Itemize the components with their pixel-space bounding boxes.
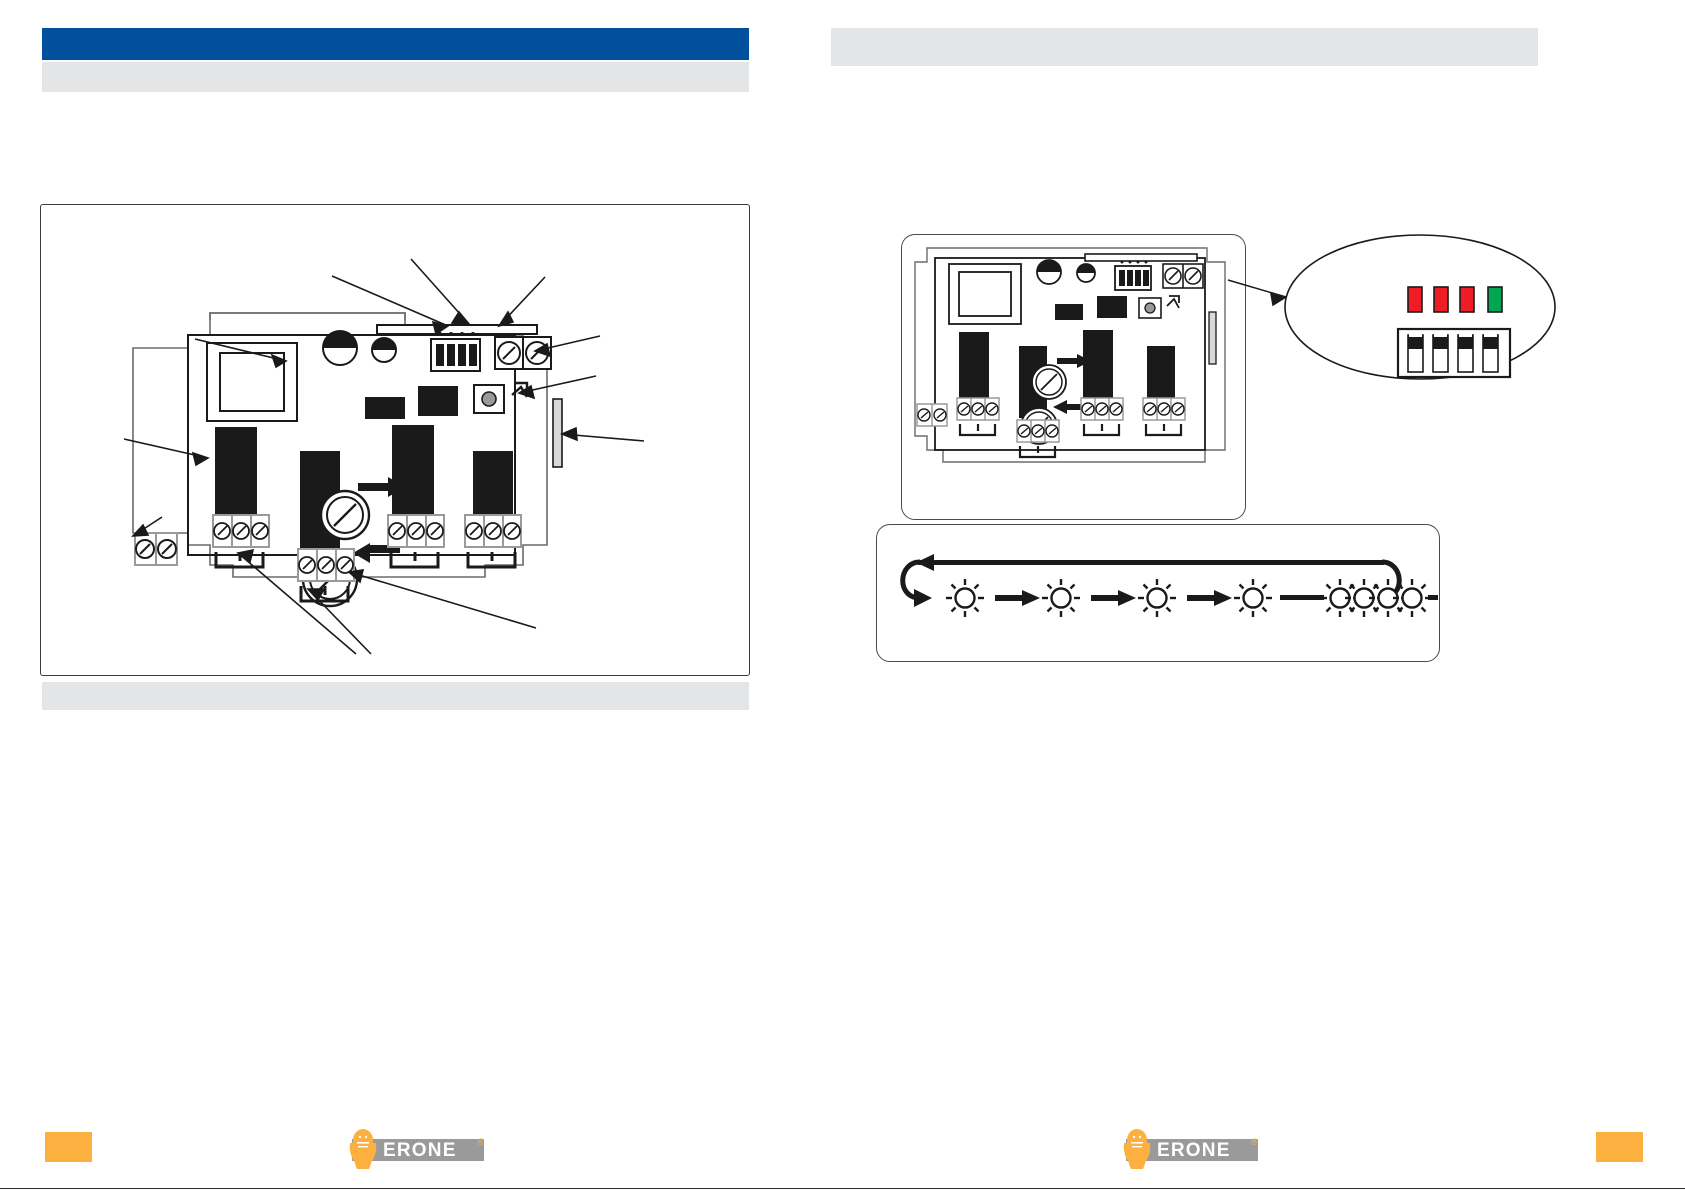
output-terminal-small-4 [1143, 398, 1185, 435]
control-board-small-svg [907, 240, 1239, 514]
lamp-step-2 [1042, 579, 1080, 617]
antenna-symbol-icon-small [1167, 296, 1179, 308]
erone-figure-icon [350, 1129, 377, 1169]
callout-8 [124, 439, 208, 465]
sequence-tail-line [1428, 595, 1438, 600]
erone-logo-svg-right: ERONE ® [1101, 1128, 1261, 1170]
page-left: ERONE ® [0, 0, 842, 1191]
magnifier-svg [1238, 225, 1658, 425]
callout-6 [519, 376, 596, 398]
callout-4 [535, 336, 600, 356]
output-terminal-small-1 [957, 398, 999, 435]
erone-logo-svg: ERONE ® [327, 1128, 487, 1170]
led-red-3 [1460, 287, 1474, 312]
transformer-icon-small [949, 264, 1021, 324]
lamp-step-4 [1234, 579, 1272, 617]
low-voltage-terminal-icon-small [917, 404, 947, 426]
lamp-sequence-drawing [876, 524, 1438, 660]
dip-switch-icon-small [1115, 261, 1151, 291]
left-title-bar [42, 28, 749, 60]
callout-2 [332, 276, 448, 334]
dip-switch-magnifier [1238, 225, 1658, 425]
trimmer-upper-icon-small [1032, 365, 1066, 399]
erone-figure-icon-right [1124, 1129, 1151, 1169]
ic-chip-icon-small [1055, 304, 1083, 320]
antenna-terminal-icon-small [1163, 264, 1203, 288]
capacitor-small-icon-small [1077, 264, 1095, 282]
sequence-connector-line [1280, 595, 1324, 600]
lamp-step-8 [1393, 579, 1431, 617]
relay-icon-small-1 [959, 332, 989, 398]
callout-leaders-svg [40, 204, 750, 674]
arrow-2-icon [1091, 590, 1136, 606]
left-caption-bar [42, 682, 749, 710]
erone-wordmark-right: ERONE [1157, 1140, 1231, 1161]
left-subtitle-bar [42, 62, 749, 92]
ic-chip-2-icon-small [1097, 296, 1127, 318]
control-board-drawing-small [907, 240, 1239, 514]
erone-registered-mark-right: ® [1251, 1137, 1258, 1147]
callout-leaders [40, 204, 750, 674]
output-terminal-small-2 [1017, 420, 1059, 457]
erone-wordmark: ERONE [383, 1140, 457, 1161]
page-right: ERONE ® [843, 0, 1685, 1191]
programming-button-icon-small [1139, 298, 1161, 318]
led-green-1 [1488, 287, 1502, 312]
arrow-1-icon [995, 590, 1040, 606]
right-page-number-swatch [1596, 1132, 1643, 1162]
right-title-bar [831, 28, 1538, 66]
erone-logo-right: ERONE ® [1101, 1128, 1261, 1170]
loop-left-arrowhead-icon [914, 589, 932, 607]
callout-5 [499, 277, 545, 326]
footer-rule [0, 1188, 1685, 1189]
left-page-number-swatch [45, 1132, 92, 1162]
callout-11 [349, 570, 536, 628]
lamp-sequence-svg [876, 524, 1438, 660]
callout-10 [238, 550, 371, 654]
capacitor-icon-small [1037, 260, 1061, 284]
radio-module-icon-small [1085, 254, 1197, 261]
edge-connector-icon-small [1209, 312, 1216, 364]
dip-switch-magnified-icon [1398, 329, 1510, 377]
led-red-1 [1408, 287, 1422, 312]
erone-logo-left: ERONE ® [327, 1128, 487, 1170]
callout-1 [195, 339, 286, 367]
lamp-step-1 [946, 579, 984, 617]
relay-icon-small-3 [1083, 330, 1113, 398]
led-red-2 [1434, 287, 1448, 312]
output-terminal-small-3 [1081, 398, 1123, 435]
loop-return-arrow-icon [916, 554, 1384, 571]
callout-9 [133, 517, 162, 536]
lamp-step-3 [1138, 579, 1176, 617]
callout-7 [562, 428, 644, 441]
arrow-3-icon [1187, 590, 1232, 606]
erone-registered-mark: ® [477, 1137, 484, 1147]
